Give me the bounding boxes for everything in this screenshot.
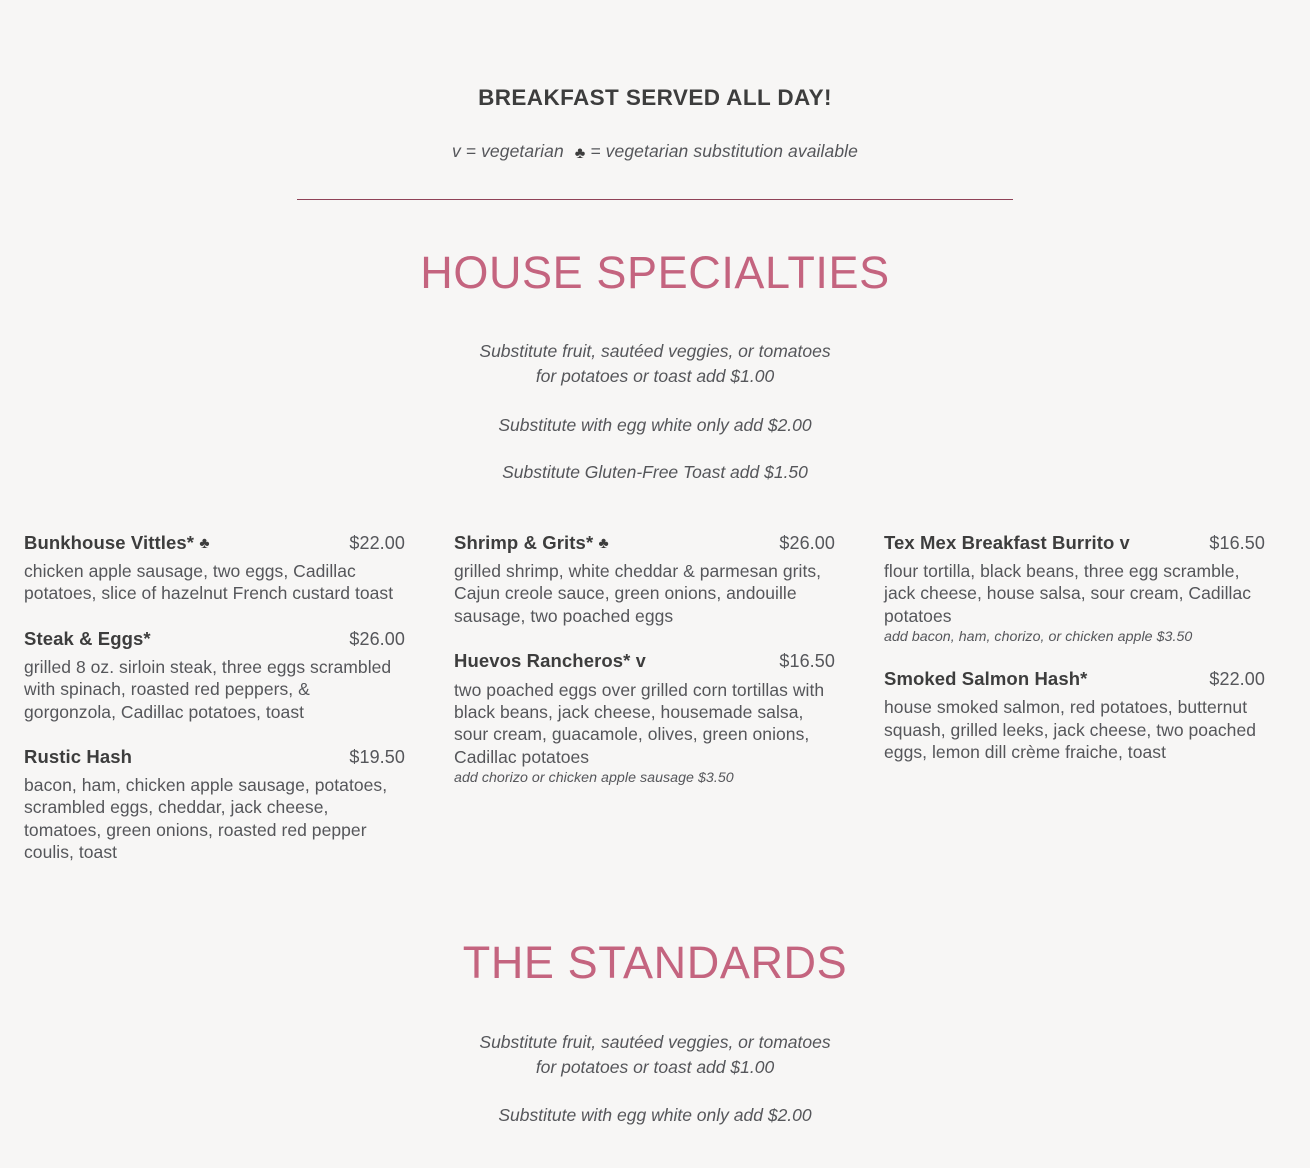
menu-item-price: $22.00 [349,533,405,554]
menu-item: Huevos Rancheros* v $16.50 two poached e… [454,649,835,786]
menu-item-name: Steak & Eggs* [24,627,151,650]
menu-item: Shrimp & Grits* ♣ $26.00 grilled shrimp,… [454,531,835,628]
menu-item-addon: add bacon, ham, chorizo, or chicken appl… [884,627,1265,645]
section-heading-the-standards: THE STANDARDS [0,864,1310,985]
menu-item-price: $16.50 [1209,533,1265,554]
menu-item-header: Rustic Hash $19.50 [24,745,405,768]
section-heading-house-specialties: HOUSE SPECIALTIES [0,200,1310,295]
menu-item-name-text: Steak & Eggs* [24,628,151,649]
menu-column-3: Tex Mex Breakfast Burrito v $16.50 flour… [884,531,1265,764]
menu-item-name: Rustic Hash [24,745,132,768]
clover-icon: ♣ [599,535,609,552]
menu-item-description: bacon, ham, chicken apple sausage, potat… [24,768,405,864]
note-gluten-free-toast: Substitute Gluten-Free Toast add $1.50 [0,438,1310,485]
menu-item-description: two poached eggs over grilled corn torti… [454,673,835,769]
menu-item: Smoked Salmon Hash* $22.00 house smoked … [884,667,1265,763]
note-egg-white: Substitute with egg white only add $2.00 [0,1080,1310,1128]
menu-item: Bunkhouse Vittles* ♣ $22.00 chicken appl… [24,531,405,605]
menu-item-description: grilled 8 oz. sirloin steak, three eggs … [24,650,405,723]
menu-item-description: house smoked salmon, red potatoes, butte… [884,690,1265,763]
note-substitute-sides-line1: Substitute fruit, sautéed veggies, or to… [0,985,1310,1055]
menu-item-name-text: Bunkhouse Vittles* [24,532,194,553]
menu-banner: BREAKFAST SERVED ALL DAY! v = vegetarian… [0,0,1310,162]
menu-item-name: Bunkhouse Vittles* ♣ [24,531,210,554]
menu-item: Steak & Eggs* $26.00 grilled 8 oz. sirlo… [24,627,405,723]
note-substitute-sides-line2: for potatoes or toast add $1.00 [0,364,1310,389]
note-substitute-sides-line2: for potatoes or toast add $1.00 [0,1055,1310,1080]
menu-columns: Bunkhouse Vittles* ♣ $22.00 chicken appl… [0,486,1310,864]
menu-item: Tex Mex Breakfast Burrito v $16.50 flour… [884,531,1265,646]
menu-item-header: Huevos Rancheros* v $16.50 [454,649,835,673]
menu-item-name: Smoked Salmon Hash* [884,667,1087,690]
menu-item-name-text: Tex Mex Breakfast Burrito [884,532,1114,553]
menu-item-addon: add chorizo or chicken apple sausage $3.… [454,768,835,786]
note-substitute-sides-line1: Substitute fruit, sautéed veggies, or to… [0,295,1310,364]
menu-item-price: $22.00 [1209,669,1265,690]
menu-item-description: flour tortilla, black beans, three egg s… [884,554,1265,627]
menu-page: BREAKFAST SERVED ALL DAY! v = vegetarian… [0,0,1310,1168]
menu-item: Rustic Hash $19.50 bacon, ham, chicken a… [24,745,405,864]
the-standards-notes: Substitute fruit, sautéed veggies, or to… [0,985,1310,1129]
menu-item-name: Tex Mex Breakfast Burrito v [884,531,1130,555]
menu-item-price: $26.00 [349,629,405,650]
page-title: BREAKFAST SERVED ALL DAY! [0,84,1310,111]
menu-item-name-text: Smoked Salmon Hash* [884,668,1087,689]
menu-item-description: chicken apple sausage, two eggs, Cadilla… [24,554,405,605]
legend: v = vegetarian♣ = vegetarian substitutio… [0,111,1310,162]
menu-item-name-text: Rustic Hash [24,746,132,767]
menu-item-header: Smoked Salmon Hash* $22.00 [884,667,1265,690]
menu-item-price: $26.00 [779,533,835,554]
legend-vegetarian-text: v = vegetarian [452,141,564,161]
menu-item-header: Steak & Eggs* $26.00 [24,627,405,650]
menu-item-price: $16.50 [779,651,835,672]
house-specialties-notes: Substitute fruit, sautéed veggies, or to… [0,295,1310,486]
menu-item-header: Bunkhouse Vittles* ♣ $22.00 [24,531,405,554]
vegetarian-icon: v [1120,533,1130,553]
menu-item-description: grilled shrimp, white cheddar & parmesan… [454,554,835,627]
menu-column-1: Bunkhouse Vittles* ♣ $22.00 chicken appl… [24,531,405,864]
menu-item-name-text: Huevos Rancheros* [454,650,630,671]
clover-icon: ♣ [199,535,209,552]
menu-item-name: Huevos Rancheros* v [454,649,646,673]
menu-item-header: Shrimp & Grits* ♣ $26.00 [454,531,835,554]
menu-item-name-text: Shrimp & Grits* [454,532,593,553]
clover-icon: ♣ [575,145,586,162]
menu-item-name: Shrimp & Grits* ♣ [454,531,609,554]
menu-column-2: Shrimp & Grits* ♣ $26.00 grilled shrimp,… [454,531,835,787]
legend-substitution-text: = vegetarian substitution available [590,141,858,161]
menu-item-price: $19.50 [349,747,405,768]
vegetarian-icon: v [636,651,646,671]
menu-item-header: Tex Mex Breakfast Burrito v $16.50 [884,531,1265,555]
note-egg-white: Substitute with egg white only add $2.00 [0,390,1310,438]
